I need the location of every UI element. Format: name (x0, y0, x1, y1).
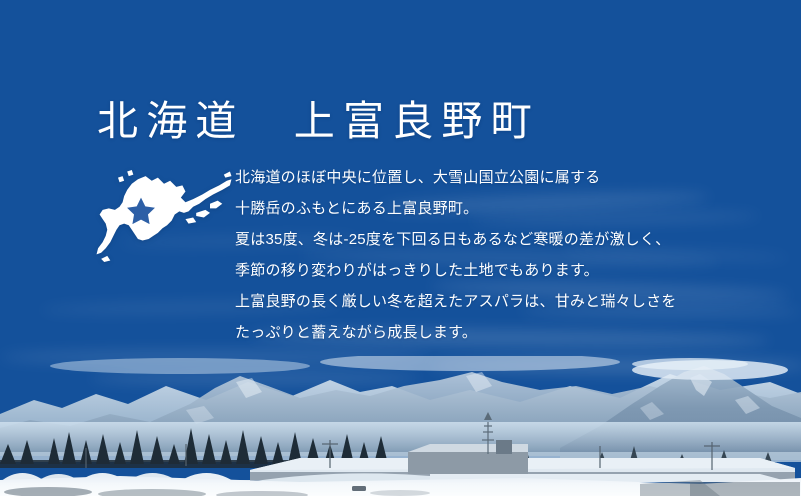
description-line: 夏は35度、冬は-25度を下回る日もあるなど寒暖の差が激しく、 (235, 224, 677, 255)
description-line: 北海道のほぼ中央に位置し、大雪山国立公園に属する (235, 162, 677, 193)
region-description: 北海道のほぼ中央に位置し、大雪山国立公園に属する 十勝岳のふもとにある上富良野町… (235, 162, 677, 348)
description-line: 上富良野の長く厳しい冬を超えたアスパラは、甘みと瑞々しさを (235, 286, 677, 317)
region-info-block: 北海道のほぼ中央に位置し、大雪山国立公園に属する 十勝岳のふもとにある上富良野町… (95, 162, 677, 348)
hero-banner: 北海道 上富良野町 北海道のほぼ中央に位置し、大雪山国立公園に属する (0, 0, 801, 496)
description-line: 季節の移り変わりがはっきりした土地でもあります。 (235, 255, 677, 286)
page-title: 北海道 上富良野町 (97, 101, 540, 142)
description-line: たっぷりと蓄えながら成長します。 (235, 317, 677, 348)
description-line: 十勝岳のふもとにある上富良野町。 (235, 193, 677, 224)
hokkaido-map-icon (95, 162, 235, 264)
winter-landscape (0, 356, 801, 496)
